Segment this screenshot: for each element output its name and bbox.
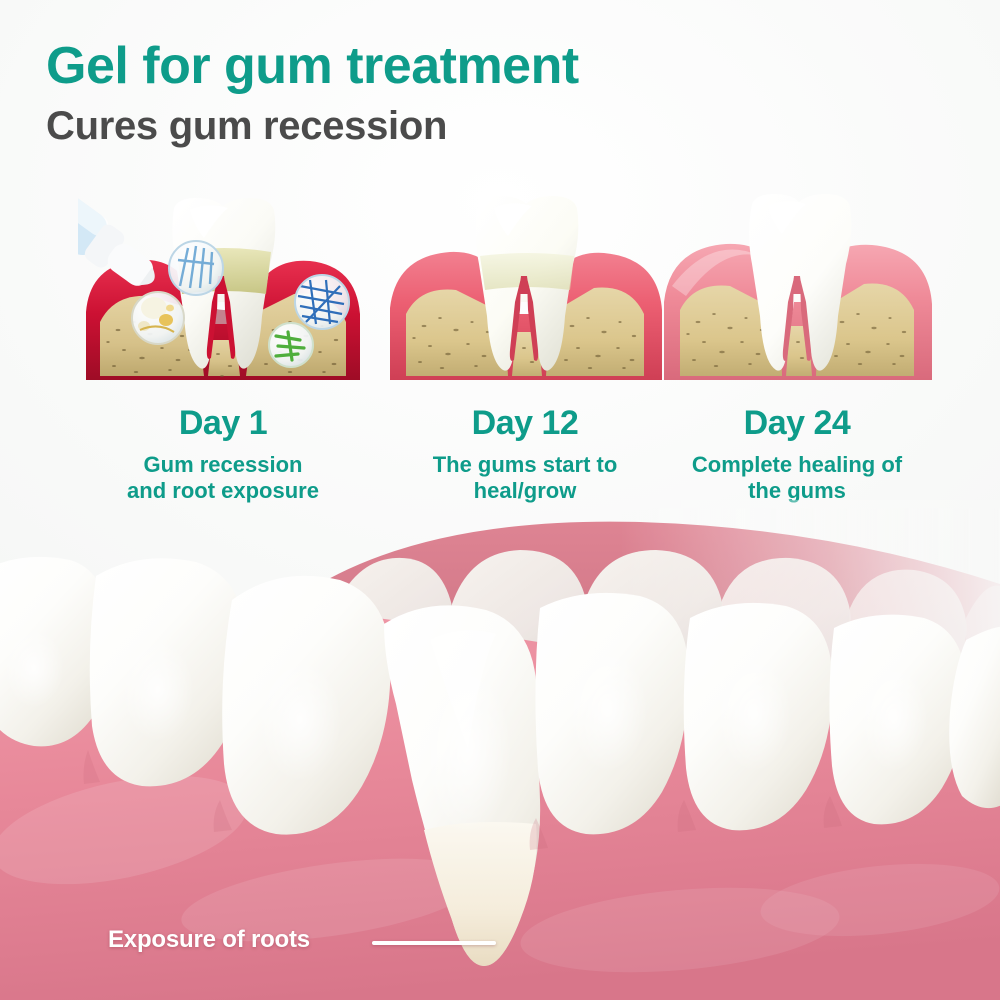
tooth-cross-section-day-24 (652, 190, 942, 400)
stage-day-24: Day 24 Complete healing of the gums (652, 190, 952, 530)
tooth-specular (258, 658, 342, 782)
tooth-specular (4, 628, 64, 708)
stage-caption: Gum recession and root exposure (72, 452, 374, 504)
jaw-illustration (0, 500, 1000, 1000)
magnifier-bubble-blue-bacteria (295, 275, 349, 329)
magnifier-bubble-yellow-debris (132, 292, 184, 344)
stage-title: Day 1 (78, 404, 368, 443)
tooth-specular (122, 638, 194, 742)
tooth-cross-section-day-1 (78, 190, 368, 400)
poster-root: Gel for gum treatment Cures gum recessio… (0, 0, 1000, 1000)
stage-caption: Complete healing of the gums (646, 452, 948, 504)
stage-caption: The gums start to heal/grow (374, 452, 676, 504)
tooth-specular (860, 664, 928, 772)
tooth-cross-section-day-12 (380, 190, 670, 400)
page-title: Gel for gum treatment (46, 36, 579, 96)
stage-day-12: Day 12 The gums start to heal/grow (380, 190, 680, 530)
exposure-of-roots-label: Exposure of roots (108, 926, 310, 954)
stage-title: Day 24 (652, 404, 942, 443)
stage-title: Day 12 (380, 404, 670, 443)
tooth-specular (716, 656, 792, 772)
callout-leader-line (372, 941, 496, 945)
magnifier-bubble-plaque-crystals (169, 241, 223, 295)
page-subtitle: Cures gum recession (46, 104, 447, 149)
lower-jaw-closeup (0, 500, 1000, 1000)
treatment-timeline: Day 1 Gum recession and root exposure (0, 190, 1000, 530)
tooth-specular (568, 648, 648, 772)
magnifier-bubble-green-bacteria (269, 323, 313, 367)
stage-day-1: Day 1 Gum recession and root exposure (78, 190, 378, 530)
